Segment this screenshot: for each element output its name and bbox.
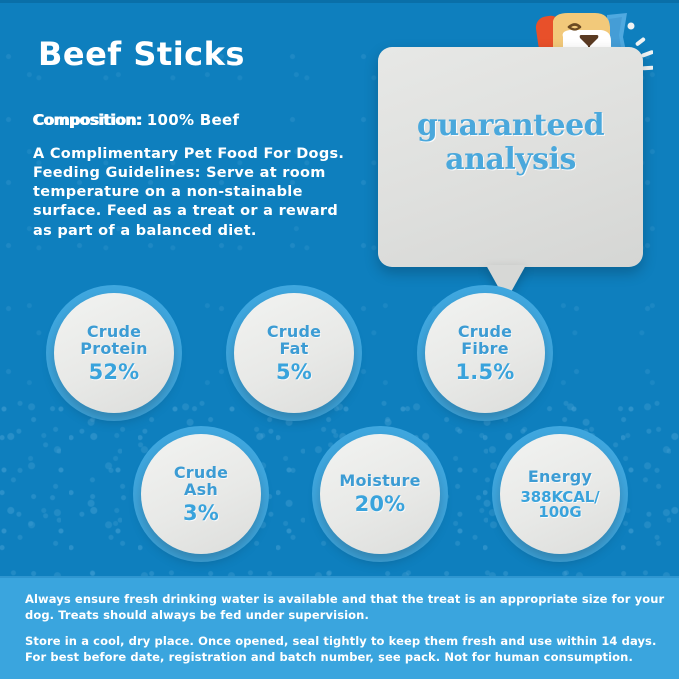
stat-value: 388KCAL/ 100G: [520, 490, 599, 521]
stat-label-line1: Crude: [458, 323, 512, 340]
stat-moisture: Moisture 20%: [320, 434, 440, 554]
stat-crude-ash: Crude Ash 3%: [141, 434, 261, 554]
stat-label-line2: Protein: [80, 340, 147, 357]
stat-label: Energy: [528, 468, 592, 485]
stat-label-line2: Ash: [174, 481, 228, 498]
product-description: A Complimentary Pet Food For Dogs. Feedi…: [33, 145, 358, 241]
stat-label-line2: Fibre: [458, 340, 512, 357]
stat-label-line1: Crude: [267, 323, 321, 340]
stat-label-line1: Energy: [528, 468, 592, 485]
stat-value: 52%: [89, 362, 140, 383]
stat-label: Crude Ash: [174, 464, 228, 499]
stat-value: 20%: [355, 494, 406, 515]
stat-label-line2: Fat: [267, 340, 321, 357]
stat-value: 5%: [276, 362, 312, 383]
composition-line: Composition: 100% Beef: [33, 111, 239, 129]
stat-label: Moisture: [339, 472, 420, 489]
stat-label-line1: Crude: [174, 464, 228, 481]
product-title: Beef Sticks: [38, 35, 245, 73]
stat-value-line2: 100G: [520, 505, 599, 520]
composition-value: 100% Beef: [147, 111, 240, 129]
stat-label-line1: Moisture: [339, 472, 420, 489]
stat-value: 1.5%: [455, 362, 514, 383]
footer-paragraph-1: Always ensure fresh drinking water is av…: [25, 592, 665, 623]
footer-paragraph-2: Store in a cool, dry place. Once opened,…: [25, 634, 665, 665]
stat-crude-protein: Crude Protein 52%: [54, 293, 174, 413]
bubble-heading: guaranteed analysis: [378, 109, 643, 176]
stat-label: Crude Fat: [267, 323, 321, 358]
footer-band: Always ensure fresh drinking water is av…: [0, 576, 679, 679]
bubble-heading-line2: analysis: [378, 143, 643, 177]
stat-crude-fat: Crude Fat 5%: [234, 293, 354, 413]
product-label-panel: Beef Sticks Composition: 100% Beef A Com…: [0, 0, 679, 679]
stat-label: Crude Fibre: [458, 323, 512, 358]
bubble-heading-line1: guaranteed: [378, 109, 643, 143]
guaranteed-analysis-bubble: guaranteed analysis: [378, 47, 643, 267]
stat-label-line1: Crude: [80, 323, 147, 340]
composition-label: Composition:: [33, 111, 142, 129]
stat-energy: Energy 388KCAL/ 100G: [500, 434, 620, 554]
stat-value: 3%: [183, 503, 219, 524]
stat-label: Crude Protein: [80, 323, 147, 358]
stat-crude-fibre: Crude Fibre 1.5%: [425, 293, 545, 413]
